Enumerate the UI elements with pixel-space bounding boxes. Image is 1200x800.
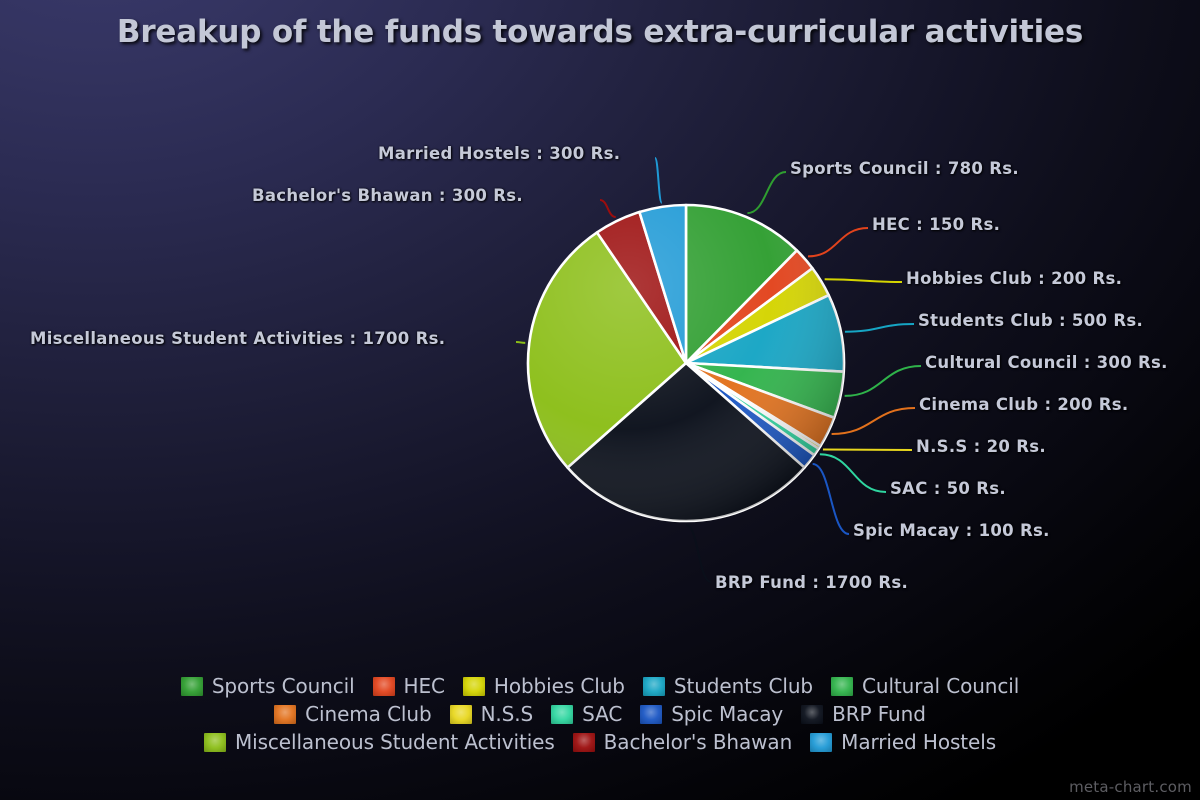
- legend-label: Sports Council: [212, 674, 355, 698]
- legend-label: Students Club: [674, 674, 813, 698]
- leader-line: [845, 366, 921, 396]
- callout-nss: N.S.S : 20 Rs.: [916, 437, 1046, 456]
- leader-line: [808, 228, 868, 256]
- legend-item[interactable]: N.S.S: [450, 702, 534, 726]
- callout-cinema-club: Cinema Club : 200 Rs.: [919, 395, 1128, 414]
- callout-sac: SAC : 50 Rs.: [890, 479, 1006, 498]
- legend-swatch-icon: [831, 677, 853, 696]
- legend-item[interactable]: Miscellaneous Student Activities: [204, 730, 555, 754]
- leader-line: [825, 279, 902, 282]
- callout-sports-council: Sports Council : 780 Rs.: [790, 159, 1019, 178]
- callout-misc-student-activities: Miscellaneous Student Activities : 1700 …: [30, 329, 445, 348]
- legend-item[interactable]: BRP Fund: [801, 702, 926, 726]
- leader-line: [747, 172, 786, 213]
- chart-canvas: Breakup of the funds towards extra-curri…: [0, 0, 1200, 800]
- leader-line: [655, 158, 662, 203]
- legend-swatch-icon: [801, 705, 823, 724]
- legend-label: Spic Macay: [671, 702, 783, 726]
- chart-legend: Sports CouncilHECHobbies ClubStudents Cl…: [0, 672, 1200, 756]
- legend-swatch-icon: [463, 677, 485, 696]
- legend-row: Miscellaneous Student ActivitiesBachelor…: [0, 728, 1200, 756]
- callout-hobbies-club: Hobbies Club : 200 Rs.: [906, 269, 1122, 288]
- callout-brp-fund: BRP Fund : 1700 Rs.: [715, 573, 908, 592]
- legend-swatch-icon: [810, 733, 832, 752]
- leader-line: [845, 324, 914, 332]
- legend-item[interactable]: Hobbies Club: [463, 674, 625, 698]
- callout-spic-macay: Spic Macay : 100 Rs.: [853, 521, 1050, 540]
- legend-swatch-icon: [551, 705, 573, 724]
- watermark: meta-chart.com: [1069, 778, 1192, 796]
- legend-swatch-icon: [640, 705, 662, 724]
- leader-line: [516, 342, 525, 343]
- leader-line: [832, 408, 915, 434]
- legend-label: BRP Fund: [832, 702, 926, 726]
- callout-bachelors-bhawan: Bachelor's Bhawan : 300 Rs.: [252, 186, 523, 205]
- legend-label: N.S.S: [481, 702, 534, 726]
- legend-item[interactable]: Cultural Council: [831, 674, 1019, 698]
- legend-item[interactable]: Spic Macay: [640, 702, 783, 726]
- legend-item[interactable]: Married Hostels: [810, 730, 996, 754]
- legend-swatch-icon: [204, 733, 226, 752]
- legend-swatch-icon: [373, 677, 395, 696]
- callout-cultural-council: Cultural Council : 300 Rs.: [925, 353, 1168, 372]
- legend-item[interactable]: Sports Council: [181, 674, 355, 698]
- callout-hec: HEC : 150 Rs.: [872, 215, 1000, 234]
- legend-label: SAC: [582, 702, 622, 726]
- legend-swatch-icon: [573, 733, 595, 752]
- callout-married-hostels: Married Hostels : 300 Rs.: [378, 144, 620, 163]
- legend-swatch-icon: [181, 677, 203, 696]
- legend-swatch-icon: [643, 677, 665, 696]
- legend-row: Sports CouncilHECHobbies ClubStudents Cl…: [0, 672, 1200, 700]
- leader-line: [686, 525, 711, 582]
- legend-label: Cultural Council: [862, 674, 1019, 698]
- legend-row: Cinema ClubN.S.SSACSpic MacayBRP Fund: [0, 700, 1200, 728]
- legend-item[interactable]: SAC: [551, 702, 622, 726]
- legend-label: HEC: [404, 674, 445, 698]
- pie-slices: [528, 205, 844, 521]
- legend-label: Married Hostels: [841, 730, 996, 754]
- legend-label: Miscellaneous Student Activities: [235, 730, 555, 754]
- legend-item[interactable]: Students Club: [643, 674, 813, 698]
- leader-line: [600, 200, 616, 217]
- legend-swatch-icon: [450, 705, 472, 724]
- legend-item[interactable]: Cinema Club: [274, 702, 431, 726]
- leader-line: [820, 454, 886, 492]
- legend-label: Hobbies Club: [494, 674, 625, 698]
- leader-line: [813, 464, 849, 534]
- callout-students-club: Students Club : 500 Rs.: [918, 311, 1143, 330]
- legend-swatch-icon: [274, 705, 296, 724]
- legend-label: Cinema Club: [305, 702, 431, 726]
- pie-chart-area: Sports Council : 780 Rs. HEC : 150 Rs. H…: [0, 0, 1200, 660]
- legend-label: Bachelor's Bhawan: [604, 730, 793, 754]
- legend-item[interactable]: Bachelor's Bhawan: [573, 730, 793, 754]
- legend-item[interactable]: HEC: [373, 674, 445, 698]
